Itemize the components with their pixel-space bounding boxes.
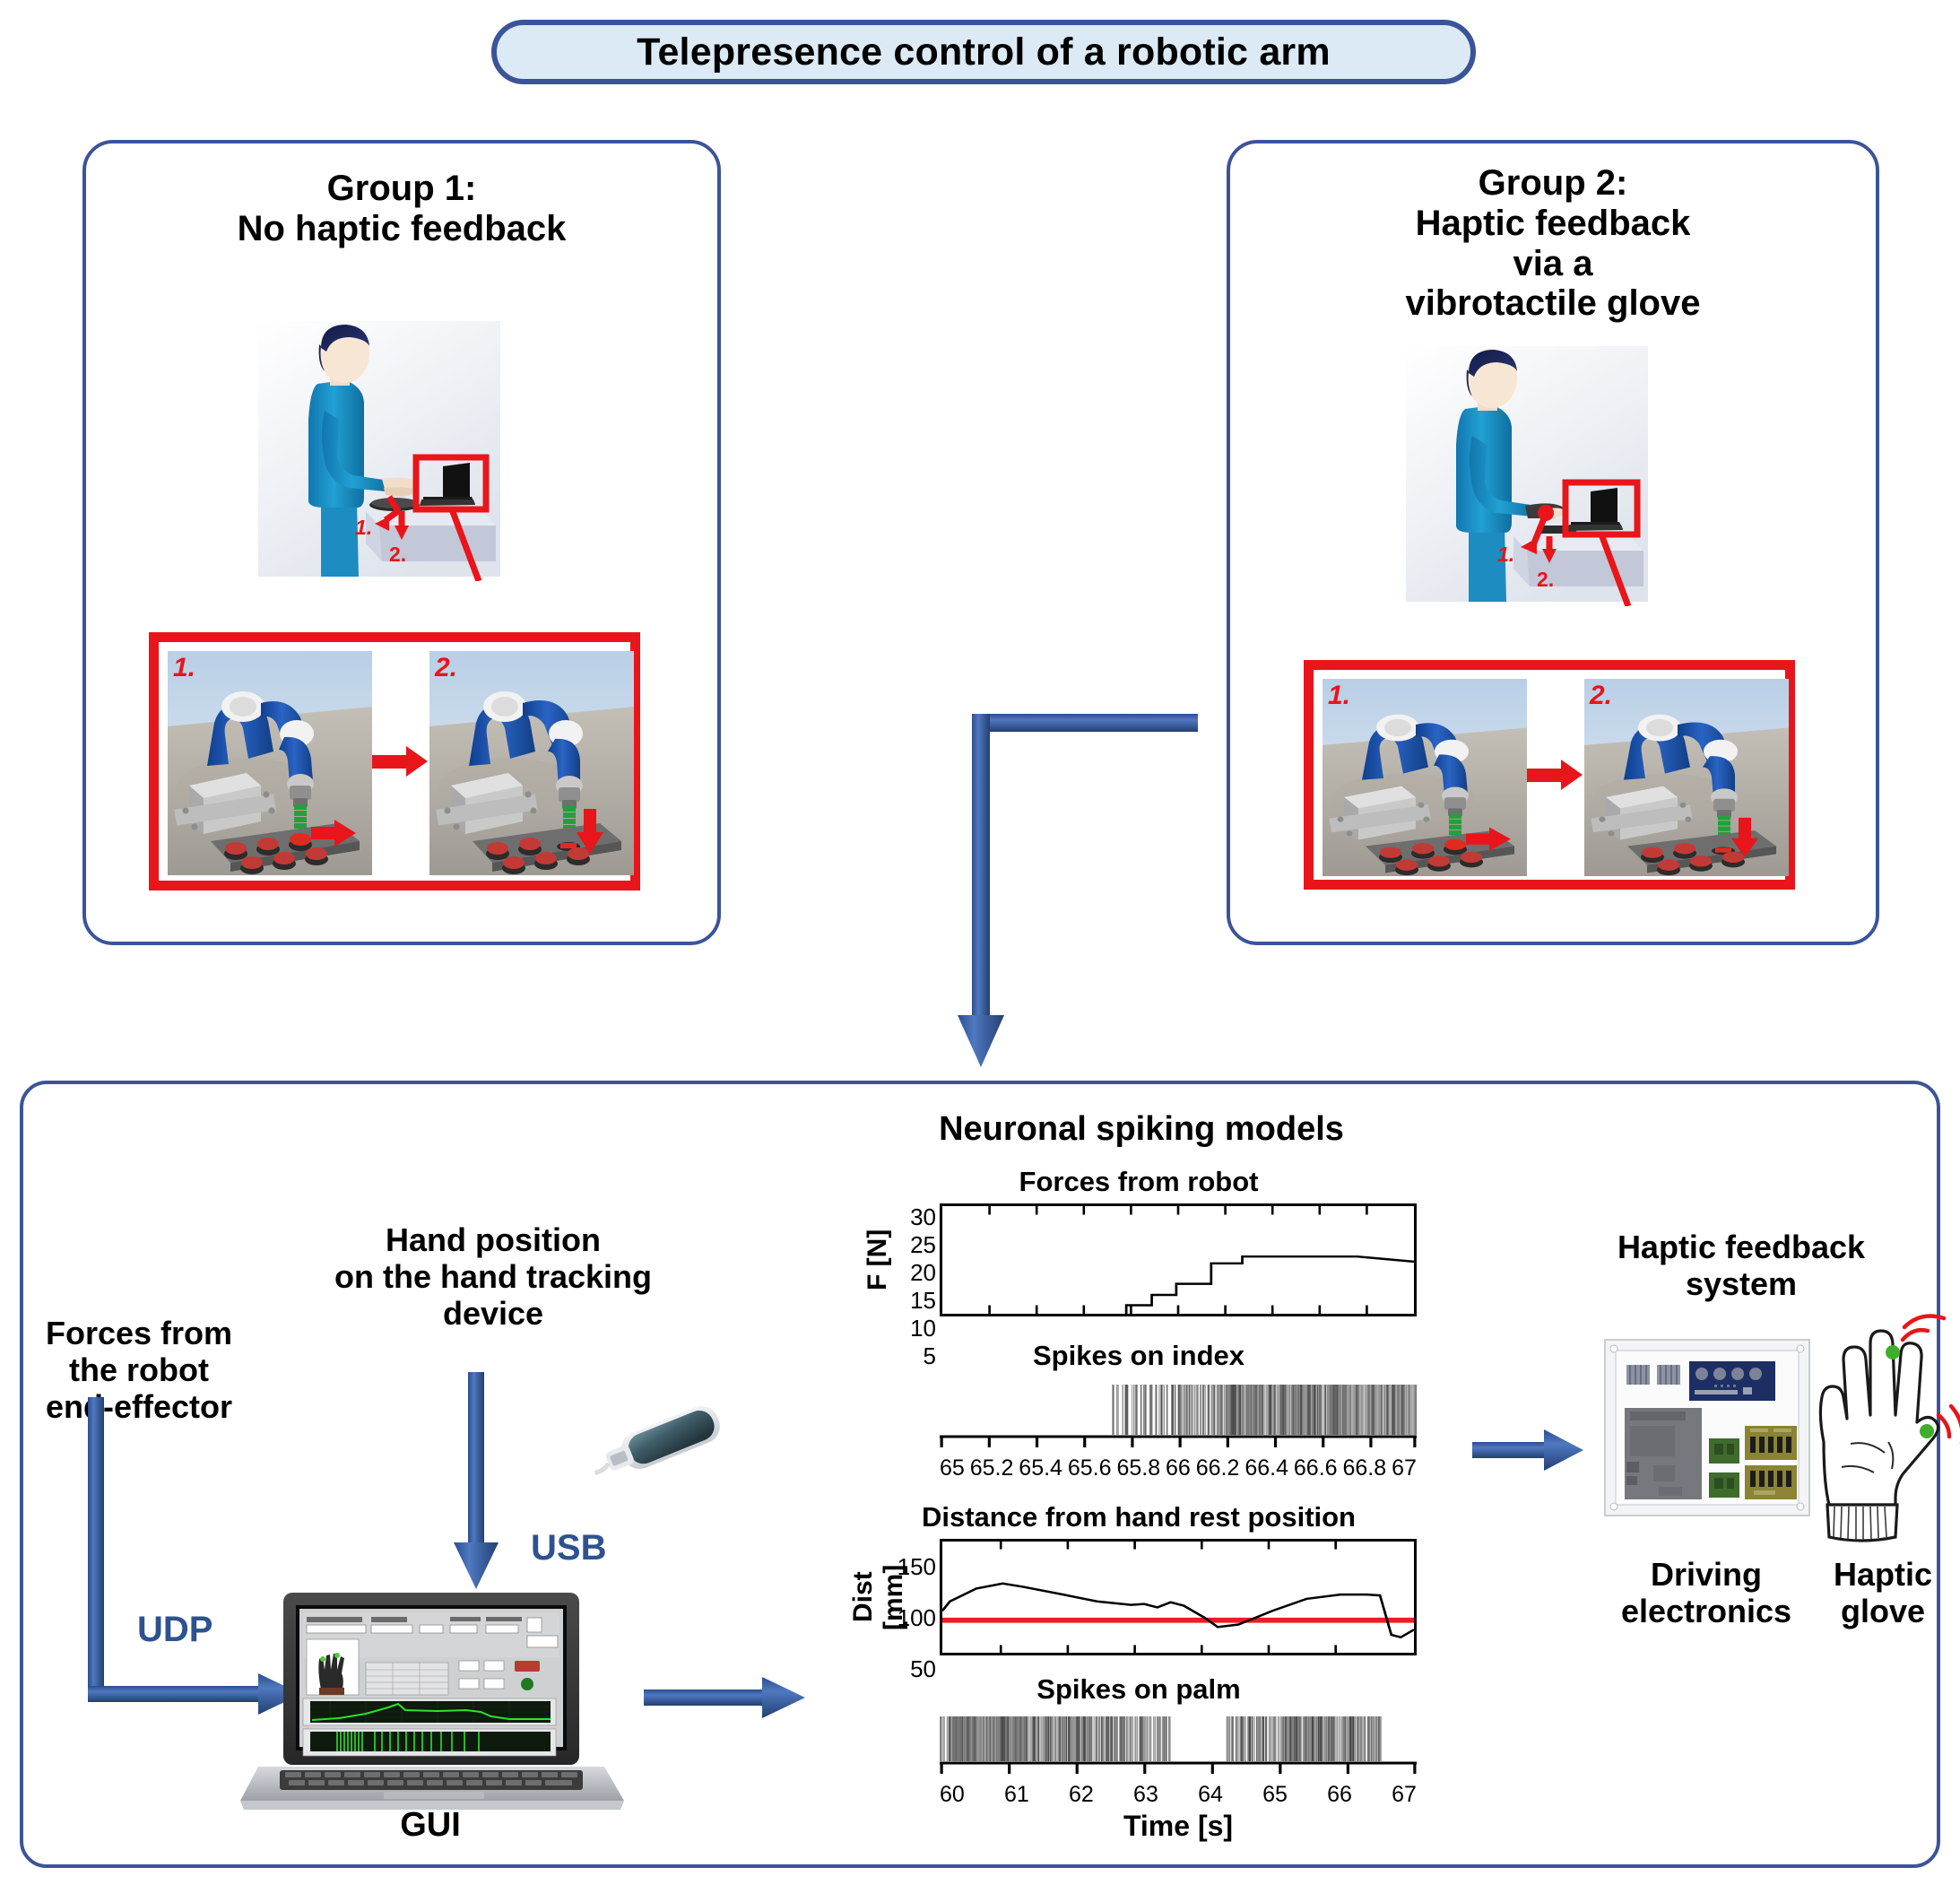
chart-spikes-index-axis <box>940 1435 1417 1449</box>
chart-spikes-palm-xticks: 60 61 62 63 64 65 66 67 <box>940 1780 1417 1808</box>
actuator-palm <box>1920 1424 1934 1438</box>
xtick: 65 <box>1262 1782 1288 1808</box>
xtick: 61 <box>1004 1782 1029 1808</box>
xtick: 66 <box>1327 1782 1352 1808</box>
xtick: 64 <box>1198 1782 1223 1808</box>
group-2-operator-illustration: 1. 2. <box>1379 346 1648 606</box>
scene-step-2-label: 2. <box>1537 568 1554 591</box>
xtick: 65.6 <box>1068 1455 1112 1481</box>
haptic-feedback-system-title: Haptic feedback system <box>1562 1229 1921 1302</box>
ytick: 5 <box>895 1342 936 1370</box>
robot-sequence-arrow <box>372 743 429 779</box>
group-2-title-line3: via a <box>1230 244 1876 284</box>
driving-electronics-label: Driving electronics <box>1585 1556 1827 1629</box>
driving-electronics-line2: electronics <box>1585 1593 1827 1629</box>
scene-step-1-label: 1. <box>355 516 372 539</box>
chart-forces-yticks: 30 25 20 15 10 5 <box>895 1203 940 1316</box>
chart-spikes-palm-title: Spikes on palm <box>861 1673 1417 1706</box>
xtick: 62 <box>1069 1782 1094 1808</box>
haptic-system-line2: system <box>1562 1265 1921 1302</box>
chart-spikes-palm-axis <box>940 1761 1417 1776</box>
xtick: 65 <box>940 1455 965 1481</box>
xtick: 66.6 <box>1294 1455 1338 1481</box>
xtick: 66.4 <box>1245 1455 1288 1481</box>
usb-protocol-label: USB <box>531 1528 606 1568</box>
group-1-title-line2: No haptic feedback <box>86 209 717 249</box>
neuronal-spiking-charts: Forces from robot F [N] 30 25 20 15 10 5 <box>861 1166 1417 1856</box>
page-title-box: Telepresence control of a robotic arm <box>491 20 1476 84</box>
haptic-glove-label: Haptic glove <box>1811 1556 1955 1629</box>
chart-forces-plot-area <box>940 1203 1417 1316</box>
chart-spikes-index-raster <box>940 1385 1417 1435</box>
robot-step-1-label: 1. <box>173 653 195 683</box>
connector-arrowhead <box>958 1015 1004 1067</box>
chart-spikes-index-xticks: 65 65.2 65.4 65.6 65.8 66 66.2 66.4 66.6… <box>940 1454 1417 1481</box>
ytick: 20 <box>895 1259 936 1287</box>
xtick: 66 <box>1166 1455 1191 1481</box>
neuronal-spiking-models-title: Neuronal spiking models <box>917 1110 1366 1149</box>
forces-from-robot-end-effector-label: Forces from the robot end-effector <box>9 1315 269 1425</box>
group-2-title: Group 2: Haptic feedback via a vibrotact… <box>1230 163 1876 324</box>
robot-step-2-label: 2. <box>1590 681 1612 711</box>
chart-forces-ylabel: F [N] <box>861 1203 895 1316</box>
page-title: Telepresence control of a robotic arm <box>637 30 1331 74</box>
ytick: 25 <box>895 1231 936 1259</box>
laptop-gui-image <box>240 1589 624 1813</box>
hand-position-label: Hand position on the hand tracking devic… <box>269 1221 717 1332</box>
chart-forces-title: Forces from robot <box>861 1166 1417 1198</box>
group-1-title-line1: Group 1: <box>86 169 717 209</box>
group-2-title-line1: Group 2: <box>1230 163 1876 204</box>
group-2-title-line4: vibrotactile glove <box>1230 283 1876 324</box>
udp-protocol-label: UDP <box>137 1610 212 1650</box>
ytick: 30 <box>895 1203 936 1231</box>
group-2-robot-sequence: 1. <box>1304 660 1795 890</box>
robot-sequence-arrow <box>1527 757 1584 793</box>
xtick: 65.2 <box>970 1455 1014 1481</box>
xtick: 67 <box>1392 1782 1417 1808</box>
xtick: 67 <box>1392 1455 1417 1481</box>
actuator-index <box>1886 1345 1900 1359</box>
xtick: 65.4 <box>1019 1455 1062 1481</box>
xtick: 63 <box>1133 1782 1158 1808</box>
group-1-robot-sequence: 1. <box>149 632 640 890</box>
hand-position-line1: Hand position <box>269 1221 717 1258</box>
robot-photo-step-2: 2. <box>429 651 634 872</box>
chart-time-axis-label: Time [s] <box>940 1810 1417 1843</box>
xtick: 60 <box>940 1782 965 1808</box>
hand-position-line2: on the hand tracking <box>269 1258 717 1295</box>
connector-vertical-segment <box>972 714 990 1028</box>
scene-step-1-label: 1. <box>1497 543 1514 566</box>
group-1-title: Group 1: No haptic feedback <box>86 169 717 249</box>
haptic-glove-image <box>1802 1307 1960 1542</box>
robot-step-1-label: 1. <box>1328 681 1350 711</box>
forces-label-line1: Forces from <box>9 1315 269 1351</box>
haptic-system-line1: Haptic feedback <box>1562 1229 1921 1265</box>
hand-position-line3: device <box>269 1295 717 1332</box>
group-2-title-line2: Haptic feedback <box>1230 204 1876 244</box>
xtick: 65.8 <box>1116 1455 1160 1481</box>
haptic-glove-line2: glove <box>1811 1593 1955 1629</box>
chart-distance-plot-area <box>940 1539 1417 1655</box>
ytick: 10 <box>895 1315 936 1342</box>
chart-spikes-index-title: Spikes on index <box>861 1340 1417 1372</box>
hand-tracking-device-image <box>581 1388 742 1496</box>
chart-distance-title: Distance from hand rest position <box>861 1501 1417 1533</box>
ytick: 15 <box>895 1287 936 1315</box>
driving-electronics-image <box>1603 1338 1811 1517</box>
driving-electronics-line1: Driving <box>1585 1556 1827 1593</box>
robot-step-2-label: 2. <box>435 653 457 683</box>
scene-step-2-label: 2. <box>389 543 406 566</box>
haptic-glove-line1: Haptic <box>1811 1556 1955 1593</box>
robot-photo-step-2: 2. <box>1584 679 1789 871</box>
forces-label-line2: the robot <box>9 1351 269 1388</box>
connector-horizontal-segment <box>972 714 1198 732</box>
forces-label-line3: end-effector <box>9 1388 269 1425</box>
ytick: 50 <box>897 1655 936 1683</box>
robot-photo-step-1: 1. <box>168 651 372 872</box>
robot-photo-step-1: 1. <box>1323 679 1527 871</box>
xtick: 66.2 <box>1196 1455 1240 1481</box>
xtick: 66.8 <box>1342 1455 1386 1481</box>
chart-distance-ylabel: Dist [mm] <box>861 1539 897 1655</box>
group-1-operator-illustration: 1. 2. <box>231 321 500 581</box>
chart-spikes-palm-raster <box>940 1716 1417 1761</box>
